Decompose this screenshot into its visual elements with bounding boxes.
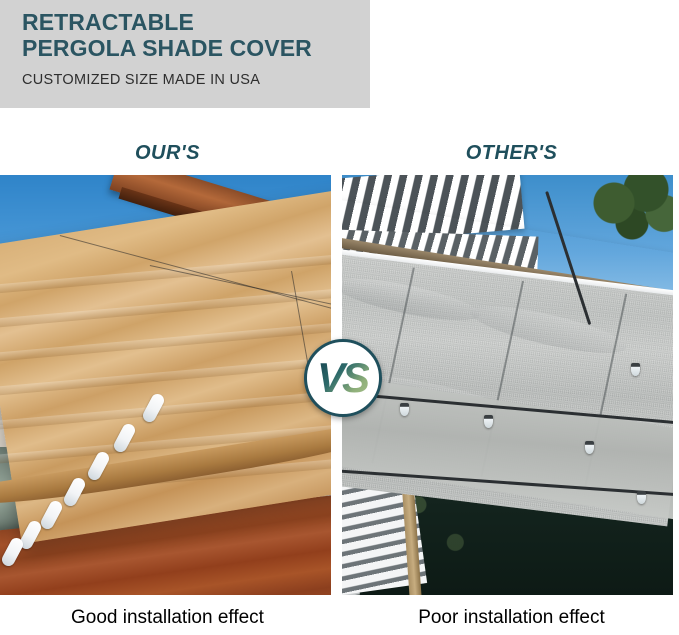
column-label-ours: OUR'S <box>0 142 335 165</box>
vs-label: VS <box>317 357 369 399</box>
page-title-line-1: RETRACTABLE <box>22 9 194 35</box>
photo-ours <box>0 175 331 595</box>
light-bulb <box>637 491 646 504</box>
header-band: RETRACTABLE PERGOLA SHADE COVER CUSTOMIZ… <box>0 0 370 108</box>
light-bulb <box>585 441 594 454</box>
page-subtitle: CUSTOMIZED SIZE MADE IN USA <box>22 72 260 88</box>
light-bulb <box>631 363 640 376</box>
photo-others <box>342 175 673 595</box>
vs-badge: VS <box>304 339 382 417</box>
light-bulb <box>400 403 409 416</box>
background-tree <box>584 175 673 247</box>
caption-ours: Good installation effect <box>0 607 335 629</box>
caption-others: Poor installation effect <box>344 607 679 629</box>
page-title-line-2: PERGOLA SHADE COVER <box>22 35 362 61</box>
column-label-others: OTHER'S <box>344 142 679 165</box>
page-title: RETRACTABLE PERGOLA SHADE COVER <box>22 9 362 61</box>
light-bulb <box>484 415 493 428</box>
